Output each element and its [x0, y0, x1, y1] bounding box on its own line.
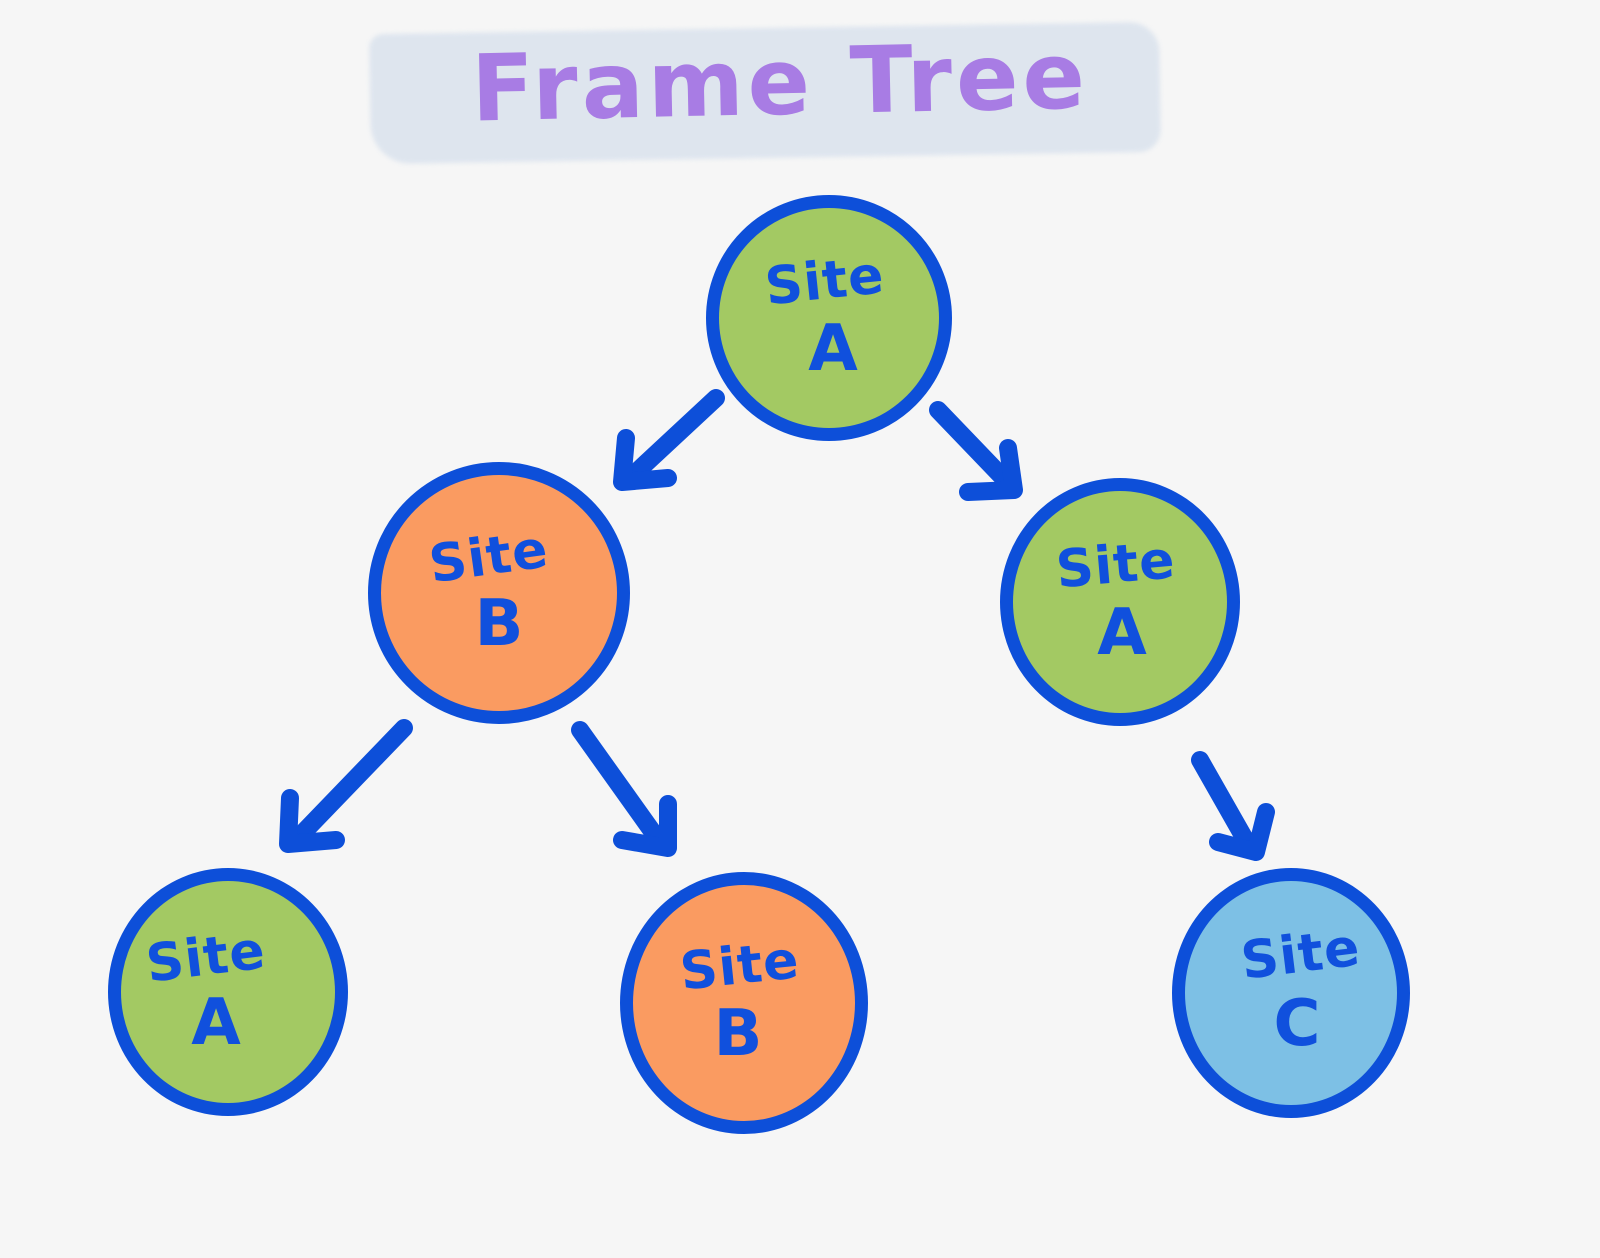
node-label-bottom: A	[1097, 601, 1147, 665]
node-site-a-mid[interactable]: Site A	[1000, 478, 1240, 726]
node-label-bottom: C	[1274, 992, 1321, 1056]
node-label-top: Site	[763, 249, 887, 313]
node-label-bottom: B	[714, 1002, 763, 1066]
node-label-top: Site	[1054, 534, 1177, 596]
node-site-a-root[interactable]: Site A	[706, 195, 952, 441]
node-label-top: Site	[678, 934, 802, 998]
node-label-bottom: B	[475, 592, 524, 656]
node-site-b-mid[interactable]: Site B	[368, 462, 630, 724]
page-title: Frame Tree	[429, 25, 1131, 141]
node-site-a-leaf[interactable]: Site A	[108, 868, 348, 1116]
title-area: Frame Tree	[360, 10, 1180, 175]
node-site-b-leaf[interactable]: Site B	[620, 872, 868, 1134]
node-site-c-leaf[interactable]: Site C	[1172, 868, 1410, 1118]
diagram-canvas: Frame Tree	[0, 0, 1600, 1258]
arrow-site-b-to-site-b-bottom	[580, 730, 668, 848]
arrow-root-to-site-a-right	[938, 410, 1014, 492]
node-label-top: Site	[426, 523, 551, 591]
arrow-site-b-to-site-a-left	[288, 728, 404, 844]
arrow-site-a-right-to-site-c	[1200, 760, 1266, 852]
node-label-bottom: A	[191, 991, 241, 1055]
node-label-bottom: A	[808, 317, 858, 381]
node-label-top: Site	[144, 925, 269, 991]
node-label-top: Site	[1238, 922, 1363, 988]
arrow-root-to-site-b	[622, 398, 716, 482]
